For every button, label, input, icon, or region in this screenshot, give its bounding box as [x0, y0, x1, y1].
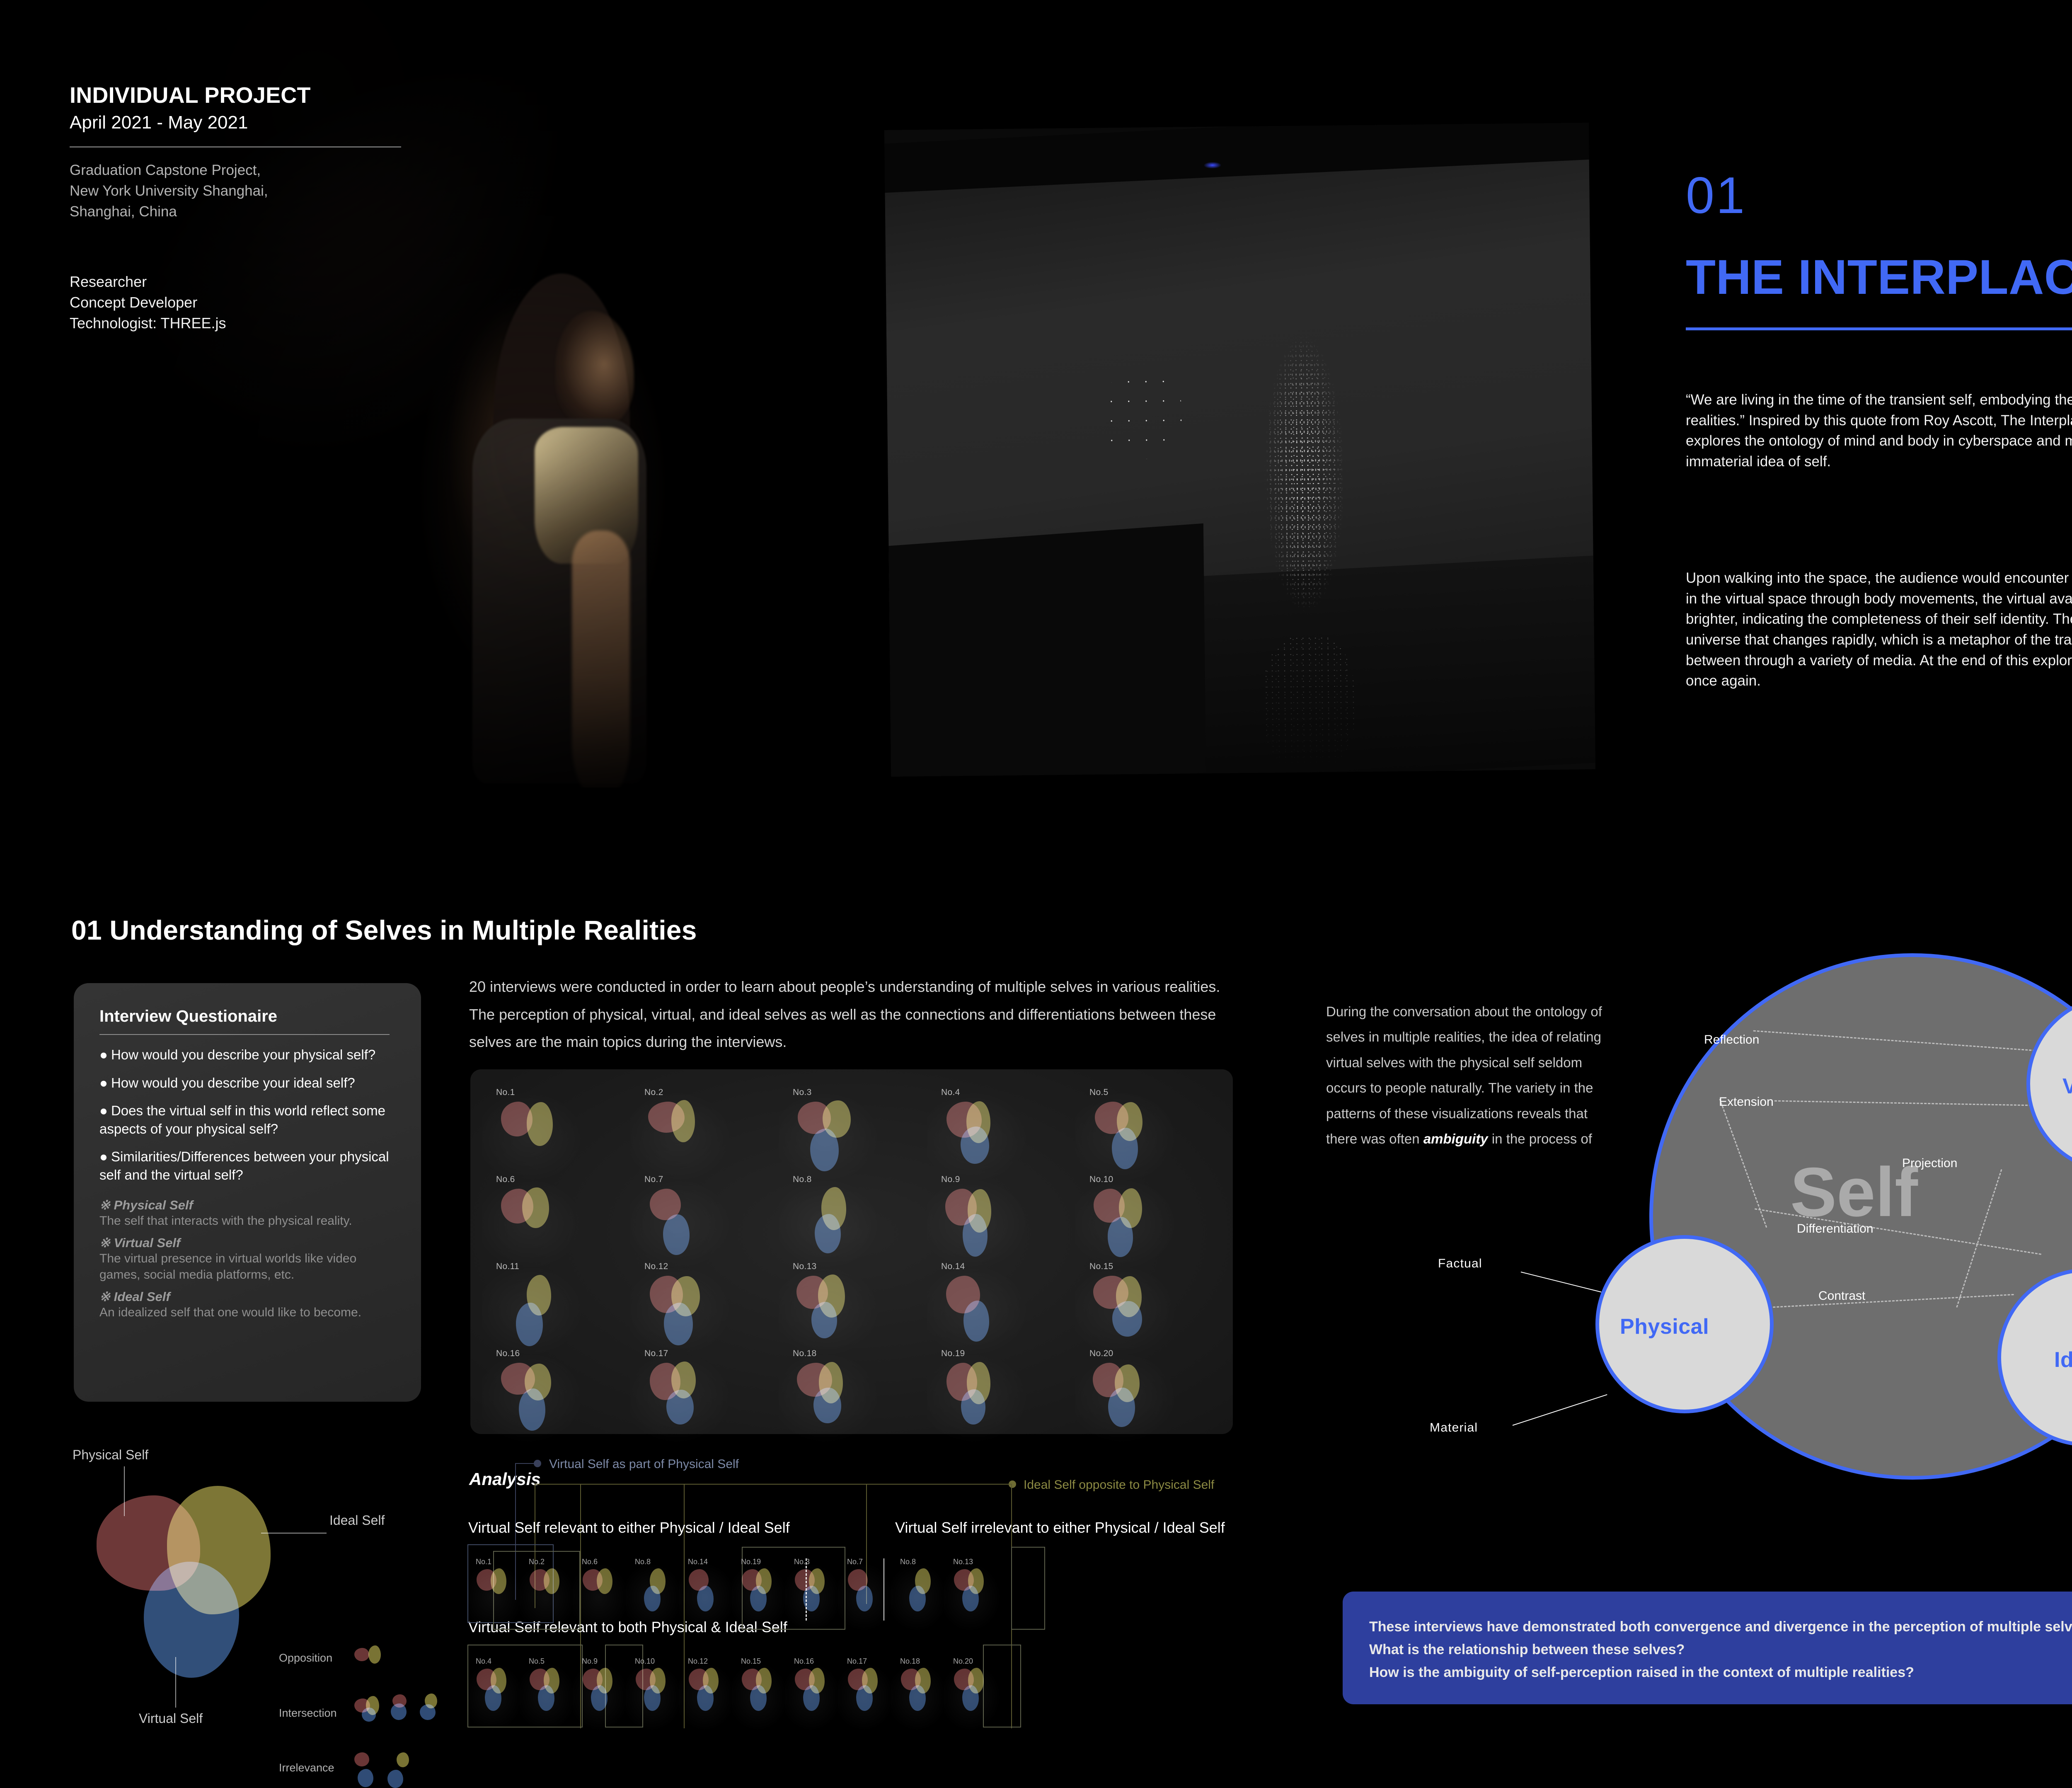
section-number: 01: [1686, 170, 1746, 221]
viz-cell-blobs: [795, 1189, 866, 1257]
viz-cell-blobs: [1092, 1102, 1162, 1170]
questionnaire-item-text: Similarities/Differences between your ph…: [99, 1149, 389, 1182]
legend-virtual-self-label: Virtual Self: [139, 1711, 203, 1726]
questionnaire-item: ●How would you describe your physical se…: [99, 1046, 395, 1064]
viz-cell-blobs: [499, 1102, 569, 1170]
role-block: Researcher Concept Developer Technologis…: [70, 271, 409, 333]
venn-inner-label-extension: Extension: [1719, 1095, 1774, 1109]
viz-blob-virtual: [961, 1389, 985, 1425]
bullet-icon: ●: [99, 1103, 108, 1118]
analysis-category-1: Virtual Self relevant to either Physical…: [468, 1519, 790, 1536]
leader-line-ideal: [261, 1533, 327, 1534]
viz-cell-blobs: [795, 1276, 866, 1344]
viz-blob-virtual: [519, 1388, 545, 1431]
viz-blob-virtual: [815, 1214, 841, 1253]
bullet-icon: ●: [99, 1149, 108, 1164]
intro-paragraph-1: “We are living in the time of the transi…: [1686, 390, 2072, 472]
questionnaire-divider: [99, 1034, 390, 1035]
interview-questionnaire-card: Interview Questionaire ●How would you de…: [74, 983, 421, 1402]
conclusion-line-3: How is the ambiguity of self-perception …: [1369, 1661, 2072, 1684]
viz-cell-blobs: [1092, 1363, 1162, 1431]
relation-label-irrelevance: Irrelevance: [279, 1761, 334, 1774]
section-intro-paragraph: 20 interviews were conducted in order to…: [469, 973, 1240, 1056]
analysis-blob-ideal: [491, 1568, 506, 1594]
analysis-mini-blobs: [954, 1569, 991, 1623]
project-type-label: INDIVIDUAL PROJECT: [70, 83, 409, 108]
analysis-mini-blobs: [583, 1669, 620, 1723]
analysis-group-box-olive-3: [1011, 1547, 1045, 1630]
role-line-3: Technologist: THREE.js: [70, 313, 409, 334]
legend-ideal-self-label: Ideal Self: [329, 1513, 385, 1528]
analysis-mini-blobs: [742, 1569, 779, 1623]
venn-paragraph-emphasis: ambiguity: [1423, 1131, 1488, 1146]
definition-block: ※ Physical Self The self that interacts …: [99, 1198, 395, 1229]
viz-blob-virtual: [813, 1388, 841, 1424]
venn-label-physical: Physical: [1620, 1314, 1709, 1339]
viz-cell-blobs: [1092, 1189, 1162, 1257]
viz-blob-virtual: [1108, 1388, 1135, 1427]
analysis-blob-virtual: [697, 1586, 714, 1611]
definitions-wrap: ※ Physical Self The self that interacts …: [99, 1198, 395, 1320]
analysis-blob-virtual: [697, 1685, 714, 1711]
analysis-mini-blobs: [848, 1669, 885, 1723]
definition-body: An idealized self that one would like to…: [99, 1304, 395, 1320]
analysis-blob-virtual: [750, 1685, 767, 1711]
analysis-blob-ideal: [544, 1568, 559, 1594]
analysis-mini-blobs: [636, 1669, 673, 1723]
questionnaire-item: ●How would you describe your ideal self?: [99, 1074, 395, 1092]
title-divider: [1686, 327, 2072, 330]
viz-blob-virtual: [1108, 1217, 1133, 1257]
analysis-mini-blobs: [689, 1669, 726, 1723]
viz-blob-virtual: [961, 1127, 989, 1164]
questionnaire-item-text: How would you describe your physical sel…: [111, 1047, 375, 1062]
questionnaire-item: ●Similarities/Differences between your p…: [99, 1148, 395, 1184]
analysis-mini-blobs: [901, 1569, 938, 1623]
analysis-blob-virtual: [962, 1586, 979, 1611]
analysis-mini-blobs: [795, 1669, 832, 1723]
analysis-blob-virtual: [750, 1586, 767, 1611]
viz-cell-blobs: [499, 1276, 569, 1344]
analysis-mini-blobs: [689, 1569, 726, 1623]
relation-label-opposition: Opposition: [279, 1652, 332, 1664]
definition-term: ※ Physical Self: [99, 1198, 395, 1213]
venn-outer-label-material: Material: [1430, 1421, 1478, 1435]
viz-cell-blobs: [795, 1102, 866, 1170]
viz-cell-blobs: [499, 1189, 569, 1257]
analysis-category-2: Virtual Self irrelevant to either Physic…: [895, 1519, 1225, 1536]
selves-venn-diagram: Self Reflection Extension Projection Rec…: [1595, 904, 2072, 1587]
affiliation-line-2: New York University Shanghai,: [70, 181, 409, 201]
analysis-blob-virtual: [909, 1586, 926, 1611]
analysis-mini-blobs: [583, 1569, 620, 1623]
viz-blob-virtual: [811, 1302, 837, 1338]
project-dates-label: April 2021 - May 2021: [70, 112, 409, 134]
venn-inner-label-differentiation: Differentiation: [1797, 1222, 1874, 1236]
analysis-blob-virtual: [803, 1685, 820, 1711]
definition-block: ※ Ideal Self An idealized self that one …: [99, 1289, 395, 1320]
questionnaire-title: Interview Questionaire: [99, 1007, 395, 1026]
viz-cell-blobs: [944, 1276, 1014, 1344]
project-meta-block: INDIVIDUAL PROJECT April 2021 - May 2021…: [70, 83, 409, 333]
bullet-icon: ●: [99, 1075, 108, 1090]
connector-blue-h: [515, 1463, 535, 1464]
legend-physical-self-label: Physical Self: [73, 1447, 148, 1463]
viz-blob-virtual: [516, 1303, 543, 1346]
section-heading: 01 Understanding of Selves in Multiple R…: [71, 914, 697, 946]
venn-inner-label-contrast: Contrast: [1818, 1289, 1865, 1303]
viz-blob-virtual: [810, 1129, 838, 1171]
analysis-blob-virtual: [644, 1685, 661, 1711]
analysis-mini-blobs: [901, 1669, 938, 1723]
viz-blob-ideal: [671, 1100, 695, 1142]
viz-blob-virtual: [963, 1214, 988, 1256]
role-line-2: Concept Developer: [70, 292, 409, 313]
analysis-blob-virtual: [962, 1685, 979, 1711]
definition-body: The self that interacts with the physica…: [99, 1213, 395, 1229]
viz-cell-blobs: [499, 1363, 569, 1431]
viz-blob-virtual: [666, 1390, 694, 1425]
analysis-blob-virtual: [591, 1685, 608, 1711]
connector-olive-h: [535, 1484, 1012, 1485]
venn-paragraph-tail: in the process of: [1488, 1131, 1592, 1146]
leader-material: [1513, 1394, 1607, 1426]
definition-block: ※ Virtual Self The virtual presence in v…: [99, 1236, 395, 1283]
viz-cell-blobs: [944, 1102, 1014, 1170]
legend-ideal-opposite: Ideal Self opposite to Physical Self: [1024, 1478, 1214, 1492]
viz-blob-virtual: [663, 1214, 690, 1255]
viz-cell-blobs: [1092, 1276, 1162, 1344]
analysis-mini-blobs: [795, 1569, 832, 1623]
interview-visualization-grid: No.1No.2No.3No.4No.5No.6No.7No.8No.9No.1…: [470, 1069, 1233, 1434]
page-title: THE INTERPLACE: [1686, 253, 2072, 302]
installation-photo-projection: [884, 123, 1595, 777]
definition-body: The virtual presence in virtual worlds l…: [99, 1250, 395, 1283]
questionnaire-item-text: Does the virtual self in this world refl…: [99, 1103, 385, 1136]
questionnaire-item-text: How would you describe your ideal self?: [111, 1075, 355, 1090]
meta-divider: [70, 146, 401, 148]
analysis-title: Analysis: [469, 1469, 541, 1489]
self-legend-diagram: Physical Self Ideal Self Virtual Self Op…: [73, 1442, 479, 1732]
venn-paragraph-text: During the conversation about the ontolo…: [1326, 1004, 1602, 1146]
bullet-icon: ●: [99, 1047, 108, 1062]
projection-shadow: [888, 523, 1206, 777]
affiliation-line-3: Shanghai, China: [70, 201, 409, 222]
viz-cell-blobs: [647, 1363, 717, 1431]
viz-cell-blobs: [795, 1363, 866, 1431]
venn-inner-label-projection: Projection: [1902, 1156, 1957, 1170]
viz-cell-blobs: [647, 1276, 717, 1344]
analysis-blob-virtual: [803, 1586, 820, 1611]
analysis-blob-virtual: [485, 1685, 501, 1711]
analysis-blob-ideal: [597, 1568, 612, 1594]
viz-blob-virtual: [1112, 1128, 1138, 1169]
analysis-mini-blobs: [954, 1669, 991, 1723]
analysis-blob-virtual: [644, 1586, 661, 1611]
particle-avatar-reflection: [1263, 635, 1355, 773]
particle-avatar: [1255, 308, 1353, 640]
venn-circle-physical: Physical: [1595, 1235, 1774, 1413]
analysis-mini-blobs: [636, 1569, 673, 1623]
analysis-mini-blobs: [848, 1569, 885, 1623]
conclusion-box: These interviews have demonstrated both …: [1343, 1592, 2072, 1704]
role-line-1: Researcher: [70, 271, 409, 292]
analysis-blob-virtual: [538, 1685, 554, 1711]
analysis-blob-virtual: [909, 1685, 926, 1711]
viz-blob-virtual: [963, 1301, 989, 1342]
affiliation-line-1: Graduation Capstone Project,: [70, 160, 409, 181]
conclusion-line-2: What is the relationship between these s…: [1369, 1638, 2072, 1661]
analysis-mini-blobs: [530, 1669, 567, 1723]
analysis-mini-blobs: [477, 1669, 514, 1723]
leader-factual: [1521, 1272, 1602, 1292]
viz-cell-blobs: [647, 1189, 717, 1257]
venn-self-label: Self: [1790, 1152, 1918, 1232]
venn-paragraph: During the conversation about the ontolo…: [1326, 999, 1616, 1151]
venn-inner-label-reflection: Reflection: [1704, 1033, 1759, 1047]
legend-blob-virtual: [144, 1562, 239, 1678]
analysis-mini-blobs: [477, 1569, 514, 1623]
venn-outer-label-factual: Factual: [1438, 1257, 1482, 1271]
analysis-blob-virtual: [856, 1586, 873, 1611]
venn-label-virtual: Virtual: [2062, 1074, 2072, 1099]
viz-blob-ideal: [522, 1187, 549, 1228]
viz-cell-blobs: [647, 1102, 717, 1170]
legend-virtual-as-part: Virtual Self as part of Physical Self: [549, 1457, 739, 1471]
analysis-mini-blobs: [530, 1569, 567, 1623]
venn-label-ideal: Ideal: [2054, 1347, 2072, 1372]
definition-term: ※ Virtual Self: [99, 1236, 395, 1250]
viz-blob-ideal: [527, 1102, 553, 1146]
conclusion-line-1: These interviews have demonstrated both …: [1369, 1616, 2072, 1638]
viz-blob-virtual: [664, 1303, 693, 1345]
analysis-blob-virtual: [856, 1685, 873, 1711]
viz-cell-blobs: [944, 1189, 1014, 1257]
definition-term: ※ Ideal Self: [99, 1289, 395, 1304]
analysis-mini-blobs: [742, 1669, 779, 1723]
projector-light-icon: [1204, 162, 1221, 168]
particle-scatter: [1102, 371, 1182, 459]
intro-paragraph-2: Upon walking into the space, the audienc…: [1686, 568, 2072, 691]
viz-cell-blobs: [944, 1363, 1014, 1431]
relation-label-intersection: Intersection: [279, 1707, 337, 1720]
viz-blob-virtual: [1112, 1301, 1142, 1337]
questionnaire-item: ●Does the virtual self in this world ref…: [99, 1102, 395, 1138]
